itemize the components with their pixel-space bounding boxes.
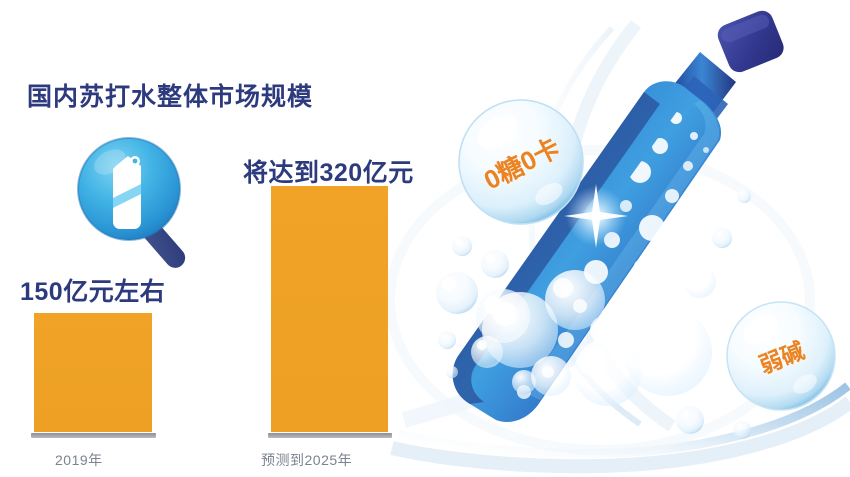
bar-2019 <box>34 313 152 432</box>
bottle-cap-icon <box>714 7 787 75</box>
bar-baseline-2019 <box>31 433 156 438</box>
bar-value-2025: 将达到320亿元 <box>243 153 414 189</box>
bar-value-2019: 150亿元左右 <box>20 272 165 308</box>
chart-title-block: 国内苏打水整体市场规模 <box>5 84 405 110</box>
infographic-canvas: 国内苏打水整体市场规模 150亿元左右 <box>0 0 850 477</box>
magnifier-bottle-icon <box>76 136 208 271</box>
bar-2025 <box>271 186 388 432</box>
callout-zero-sugar-zero-calorie: 0糖0卡 <box>457 98 585 226</box>
title-underline-bar <box>9 116 380 129</box>
bar-baseline-2025 <box>268 433 392 438</box>
callout-weak-alkaline: 弱碱 <box>725 300 837 412</box>
page-title: 国内苏打水整体市场规模 <box>5 84 405 110</box>
bar-category-2019: 2019年 <box>55 450 103 470</box>
bar-category-2025: 预测到2025年 <box>261 450 352 470</box>
